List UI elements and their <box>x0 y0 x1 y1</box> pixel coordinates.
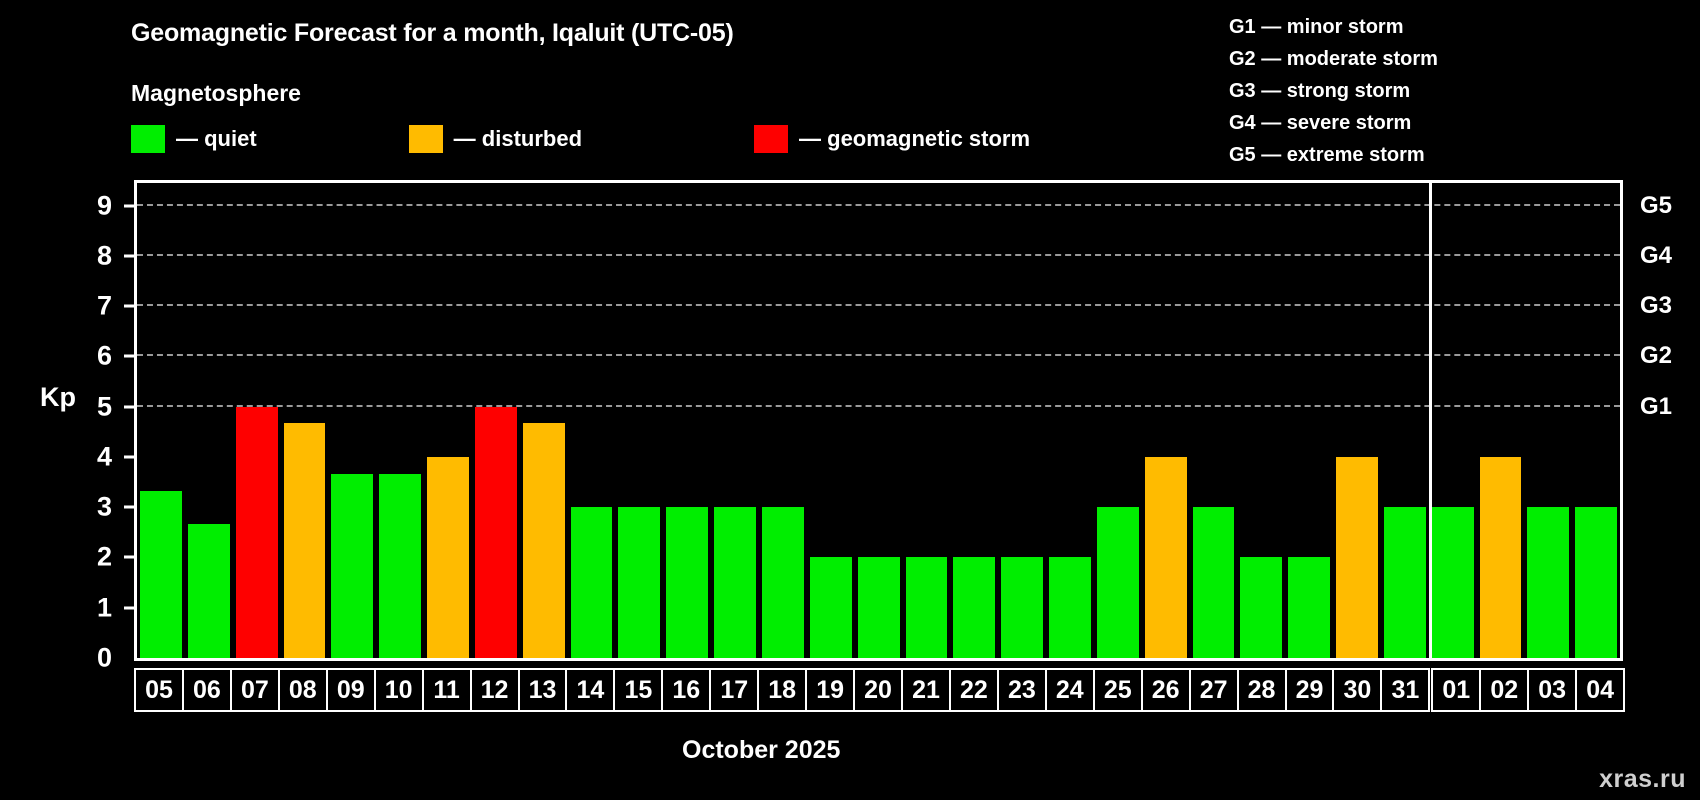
bar-day-12[interactable] <box>475 407 517 658</box>
day-label-05[interactable]: 05 <box>134 668 184 712</box>
bar-day-06[interactable] <box>188 524 230 658</box>
bar-slot <box>1333 183 1381 658</box>
bar-slot <box>1524 183 1572 658</box>
bar-slot <box>1046 183 1094 658</box>
day-label-16[interactable]: 16 <box>661 668 711 712</box>
y-tick-label-6: 6 <box>0 341 112 372</box>
day-label-21[interactable]: 21 <box>901 668 951 712</box>
y-tick-label-4: 4 <box>0 441 112 472</box>
g-axis-label-G2: G2 <box>1640 342 1672 370</box>
day-label-12[interactable]: 12 <box>470 668 520 712</box>
page-title: Geomagnetic Forecast for a month, Iqalui… <box>131 19 734 48</box>
legend-label-disturbed: — disturbed <box>454 126 582 152</box>
bars-layer <box>137 183 1620 658</box>
month-divider-line <box>1429 183 1432 658</box>
bar-day-19[interactable] <box>810 557 852 658</box>
x-axis-day-labels: 0506070809101112131415161718192021222324… <box>134 668 1623 712</box>
bar-day-25[interactable] <box>1097 507 1139 658</box>
g-axis-label-G5: G5 <box>1640 192 1672 220</box>
day-label-10[interactable]: 10 <box>374 668 424 712</box>
g-legend-row-4: G4 — severe storm <box>1229 107 1438 139</box>
bar-day-24[interactable] <box>1049 557 1091 658</box>
day-label-08[interactable]: 08 <box>278 668 328 712</box>
bar-day-14[interactable] <box>571 507 613 658</box>
legend-entry-disturbed: — disturbed <box>409 125 582 153</box>
day-label-07[interactable]: 07 <box>230 668 280 712</box>
legend-swatch-storm <box>754 125 788 153</box>
bar-slot <box>472 183 520 658</box>
g-legend-row-1: G1 — minor storm <box>1229 11 1438 43</box>
day-label-23[interactable]: 23 <box>997 668 1047 712</box>
magnetosphere-label: Magnetosphere <box>131 80 301 107</box>
bar-slot <box>1285 183 1333 658</box>
bar-day-31[interactable] <box>1384 507 1426 658</box>
legend-swatch-disturbed <box>409 125 443 153</box>
bar-slot <box>233 183 281 658</box>
day-label-04[interactable]: 04 <box>1575 668 1625 712</box>
bar-slot <box>137 183 185 658</box>
bar-day-21[interactable] <box>906 557 948 658</box>
g-axis-label-G4: G4 <box>1640 242 1672 270</box>
day-label-09[interactable]: 09 <box>326 668 376 712</box>
bar-day-05[interactable] <box>140 491 182 658</box>
bar-day-13[interactable] <box>523 423 565 658</box>
color-legend: — quiet— disturbed— geomagnetic storm <box>131 125 1030 153</box>
legend-label-quiet: — quiet <box>176 126 257 152</box>
bar-slot <box>1381 183 1429 658</box>
g-legend-row-2: G2 — moderate storm <box>1229 43 1438 75</box>
day-label-18[interactable]: 18 <box>757 668 807 712</box>
bar-slot <box>950 183 998 658</box>
day-label-24[interactable]: 24 <box>1045 668 1095 712</box>
day-label-03[interactable]: 03 <box>1527 668 1577 712</box>
bar-day-30[interactable] <box>1336 457 1378 658</box>
x-axis-title: October 2025 <box>682 736 840 765</box>
bar-day-23[interactable] <box>1001 557 1043 658</box>
bar-slot <box>663 183 711 658</box>
bar-day-01[interactable] <box>1432 507 1474 658</box>
y-tick-label-9: 9 <box>0 190 112 221</box>
bar-day-28[interactable] <box>1240 557 1282 658</box>
legend-entry-quiet: — quiet <box>131 125 257 153</box>
bar-slot <box>376 183 424 658</box>
y-tick-label-1: 1 <box>0 592 112 623</box>
bar-slot <box>424 183 472 658</box>
bar-slot <box>615 183 663 658</box>
bar-day-07[interactable] <box>236 407 278 658</box>
legend-label-storm: — geomagnetic storm <box>799 126 1030 152</box>
bar-slot <box>1094 183 1142 658</box>
bar-day-10[interactable] <box>379 474 421 658</box>
bar-slot <box>855 183 903 658</box>
bar-slot <box>759 183 807 658</box>
day-label-02[interactable]: 02 <box>1479 668 1529 712</box>
plot-area <box>134 180 1623 661</box>
bar-slot <box>1142 183 1190 658</box>
y-tick-label-7: 7 <box>0 291 112 322</box>
bar-slot <box>568 183 616 658</box>
bar-day-15[interactable] <box>618 507 660 658</box>
bar-day-02[interactable] <box>1480 457 1522 658</box>
day-label-26[interactable]: 26 <box>1141 668 1191 712</box>
bar-day-27[interactable] <box>1193 507 1235 658</box>
y-tick-label-3: 3 <box>0 492 112 523</box>
bar-day-04[interactable] <box>1575 507 1617 658</box>
day-label-29[interactable]: 29 <box>1285 668 1335 712</box>
bar-slot <box>281 183 329 658</box>
bar-slot <box>998 183 1046 658</box>
day-label-06[interactable]: 06 <box>182 668 232 712</box>
bar-day-18[interactable] <box>762 507 804 658</box>
day-label-14[interactable]: 14 <box>565 668 615 712</box>
bar-slot <box>1572 183 1620 658</box>
g-scale-legend: G1 — minor stormG2 — moderate stormG3 — … <box>1229 11 1438 171</box>
bar-day-09[interactable] <box>331 474 373 658</box>
day-label-01[interactable]: 01 <box>1431 668 1481 712</box>
y-tick-label-8: 8 <box>0 240 112 271</box>
y-tick-label-2: 2 <box>0 542 112 573</box>
bar-slot <box>1429 183 1477 658</box>
day-label-27[interactable]: 27 <box>1189 668 1239 712</box>
bar-slot <box>520 183 568 658</box>
bar-day-26[interactable] <box>1145 457 1187 658</box>
legend-swatch-quiet <box>131 125 165 153</box>
bar-slot <box>1477 183 1525 658</box>
watermark: xras.ru <box>1599 765 1686 794</box>
day-label-28[interactable]: 28 <box>1237 668 1287 712</box>
bar-day-08[interactable] <box>284 423 326 658</box>
bar-slot <box>328 183 376 658</box>
g-legend-row-5: G5 — extreme storm <box>1229 139 1438 171</box>
bar-day-16[interactable] <box>666 507 708 658</box>
day-label-11[interactable]: 11 <box>422 668 472 712</box>
day-label-30[interactable]: 30 <box>1332 668 1382 712</box>
day-label-13[interactable]: 13 <box>518 668 568 712</box>
bar-day-03[interactable] <box>1527 507 1569 658</box>
bar-day-11[interactable] <box>427 457 469 658</box>
day-label-25[interactable]: 25 <box>1093 668 1143 712</box>
g-legend-row-3: G3 — strong storm <box>1229 75 1438 107</box>
y-tick-label-0: 0 <box>0 643 112 674</box>
day-label-31[interactable]: 31 <box>1380 668 1430 712</box>
y-tick-label-5: 5 <box>0 391 112 422</box>
plot-inner <box>137 183 1620 658</box>
bar-slot <box>185 183 233 658</box>
bar-day-22[interactable] <box>953 557 995 658</box>
day-label-15[interactable]: 15 <box>613 668 663 712</box>
bar-slot <box>903 183 951 658</box>
g-axis-label-G3: G3 <box>1640 292 1672 320</box>
day-label-22[interactable]: 22 <box>949 668 999 712</box>
bar-day-17[interactable] <box>714 507 756 658</box>
day-label-20[interactable]: 20 <box>853 668 903 712</box>
bar-slot <box>1190 183 1238 658</box>
bar-slot <box>1237 183 1285 658</box>
g-axis-label-G1: G1 <box>1640 393 1672 421</box>
bar-day-20[interactable] <box>858 557 900 658</box>
bar-slot <box>711 183 759 658</box>
day-label-19[interactable]: 19 <box>805 668 855 712</box>
bar-slot <box>807 183 855 658</box>
day-label-17[interactable]: 17 <box>709 668 759 712</box>
legend-entry-storm: — geomagnetic storm <box>754 125 1030 153</box>
bar-day-29[interactable] <box>1288 557 1330 658</box>
